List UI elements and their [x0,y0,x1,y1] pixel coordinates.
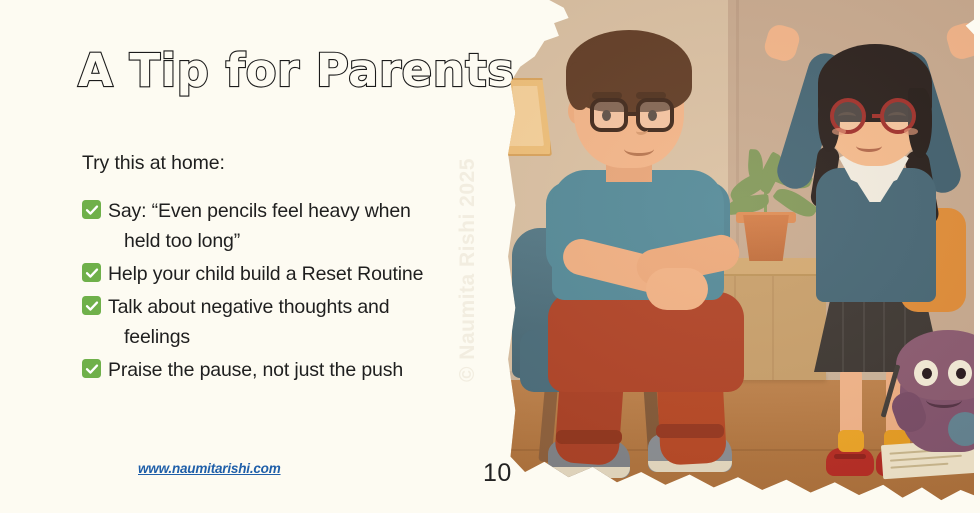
list-item-line-1: Say: “Even pencils feel heavy when [108,200,411,222]
list-item-line-1: Praise the pause, not just the push [108,359,403,381]
illustration-torn-paper-clip [496,0,980,513]
monster-smile [926,392,962,408]
page-title: A Tip for Parents [78,44,515,97]
checklist: Say: “Even pencils feel heavy when held … [82,196,482,388]
check-icon [82,296,101,315]
check-icon [82,200,101,219]
text-column: A Tip for Parents Try this at home: Say:… [0,0,500,513]
list-item: Say: “Even pencils feel heavy when held … [82,196,482,256]
list-item: Praise the pause, not just the push [82,355,482,385]
list-item: Talk about negative thoughts and feeling… [82,292,482,352]
monster-pupil-left [922,368,932,379]
list-item-line-1: Talk about negative thoughts and [108,296,389,318]
illustration-right-edge [974,0,980,513]
slide-canvas: A Tip for Parents Try this at home: Say:… [0,0,980,513]
intro-text: Try this at home: [82,152,225,175]
illustration [496,0,980,513]
check-icon [82,263,101,282]
list-item-line-1: Help your child build a Reset Routine [108,263,423,285]
list-item-line-2: feelings [108,322,389,352]
website-link[interactable]: www.naumitarishi.com [138,461,281,476]
list-item: Help your child build a Reset Routine [82,259,482,289]
list-item-label: Help your child build a Reset Routine [108,259,423,289]
list-item-label: Say: “Even pencils feel heavy when held … [108,196,411,256]
list-item-label: Talk about negative thoughts and feeling… [108,292,389,352]
list-item-line-2: held too long” [108,226,411,256]
list-item-label: Praise the pause, not just the push [108,355,403,385]
monster-figure [496,0,980,513]
check-icon [82,359,101,378]
copyright-watermark: © Naumita Rishi 2025 [456,102,480,382]
monster-pupil-right [956,368,966,379]
